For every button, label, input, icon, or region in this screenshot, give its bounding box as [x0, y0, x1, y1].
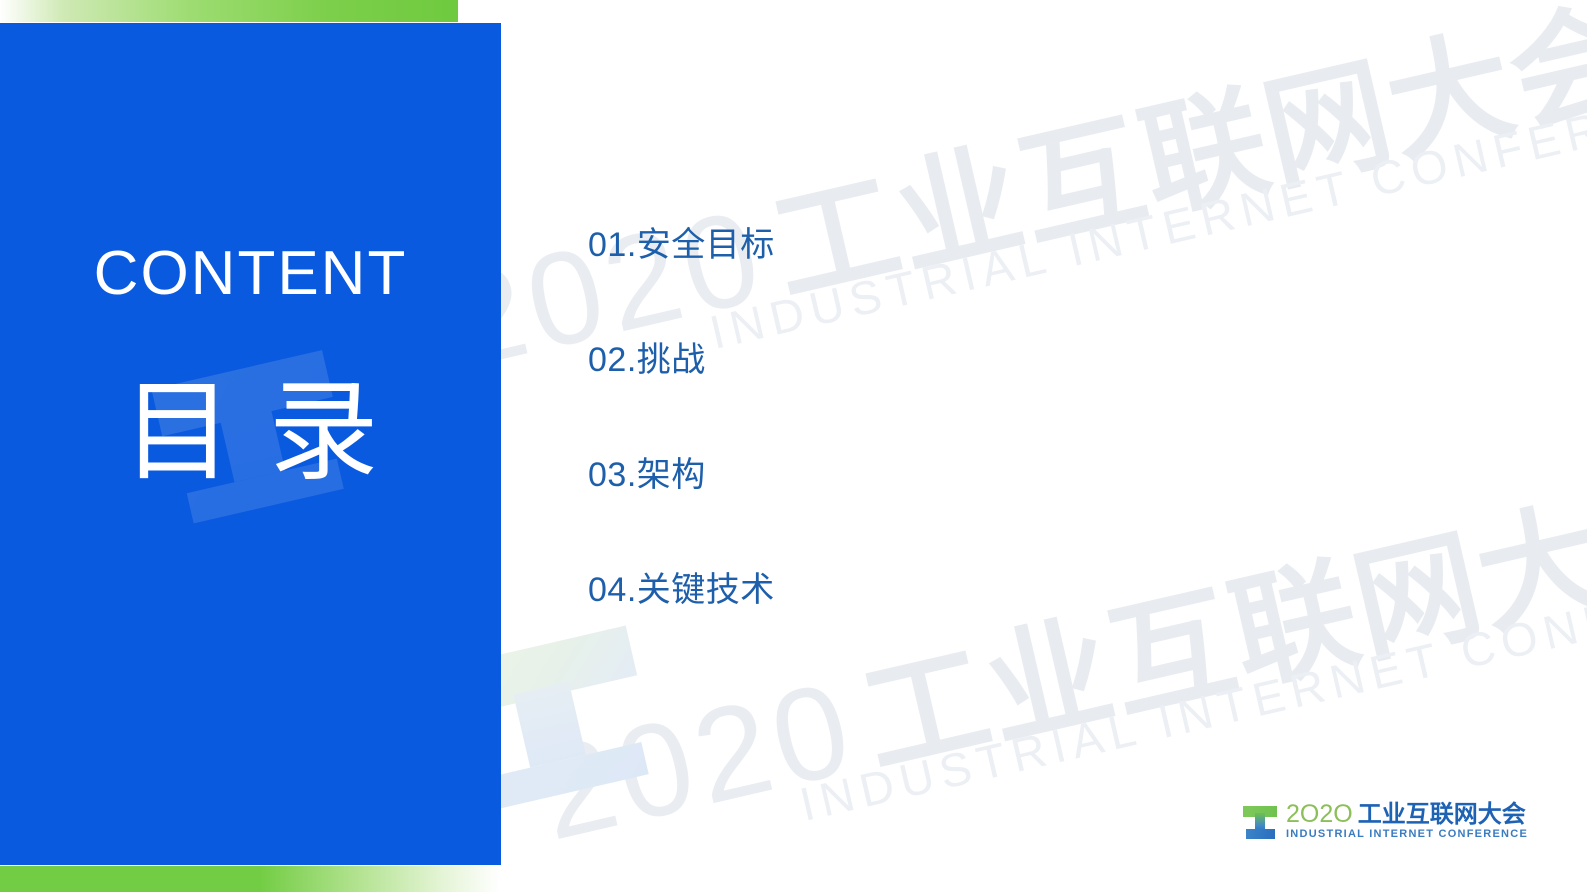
page-title-chinese: 目录 — [0, 378, 501, 488]
left-blue-panel: CONTENT 目录 — [0, 23, 501, 865]
agenda-list: 01.安全目标 02.挑战 03.架构 04.关键技术 — [588, 228, 1008, 688]
agenda-item-4[interactable]: 04.关键技术 — [588, 573, 1008, 688]
page-title-chinese-char-2: 录 — [269, 371, 379, 494]
agenda-item-2[interactable]: 02.挑战 — [588, 343, 1008, 458]
logo-year: 2O2O — [1286, 802, 1353, 827]
agenda-item-1[interactable]: 01.安全目标 — [588, 228, 1008, 343]
logo-chinese-name: 工业互联网大会 — [1358, 803, 1526, 827]
bottom-green-accent-bar — [0, 866, 500, 892]
conference-logo: 2O2O 工业互联网大会 INDUSTRIAL INTERNET CONFERE… — [1243, 802, 1528, 840]
gong-logo-icon — [1243, 803, 1277, 839]
top-green-accent-bar — [0, 0, 458, 22]
page-title-chinese-char-1: 目 — [123, 371, 233, 494]
logo-english-name: INDUSTRIAL INTERNET CONFERENCE — [1286, 828, 1528, 840]
slide-table-of-contents: 2020 工业互联网大会 INDUSTRIAL INTERNET CONFERE… — [0, 0, 1587, 892]
page-title-english: CONTENT — [0, 243, 501, 305]
agenda-item-3[interactable]: 03.架构 — [588, 458, 1008, 573]
